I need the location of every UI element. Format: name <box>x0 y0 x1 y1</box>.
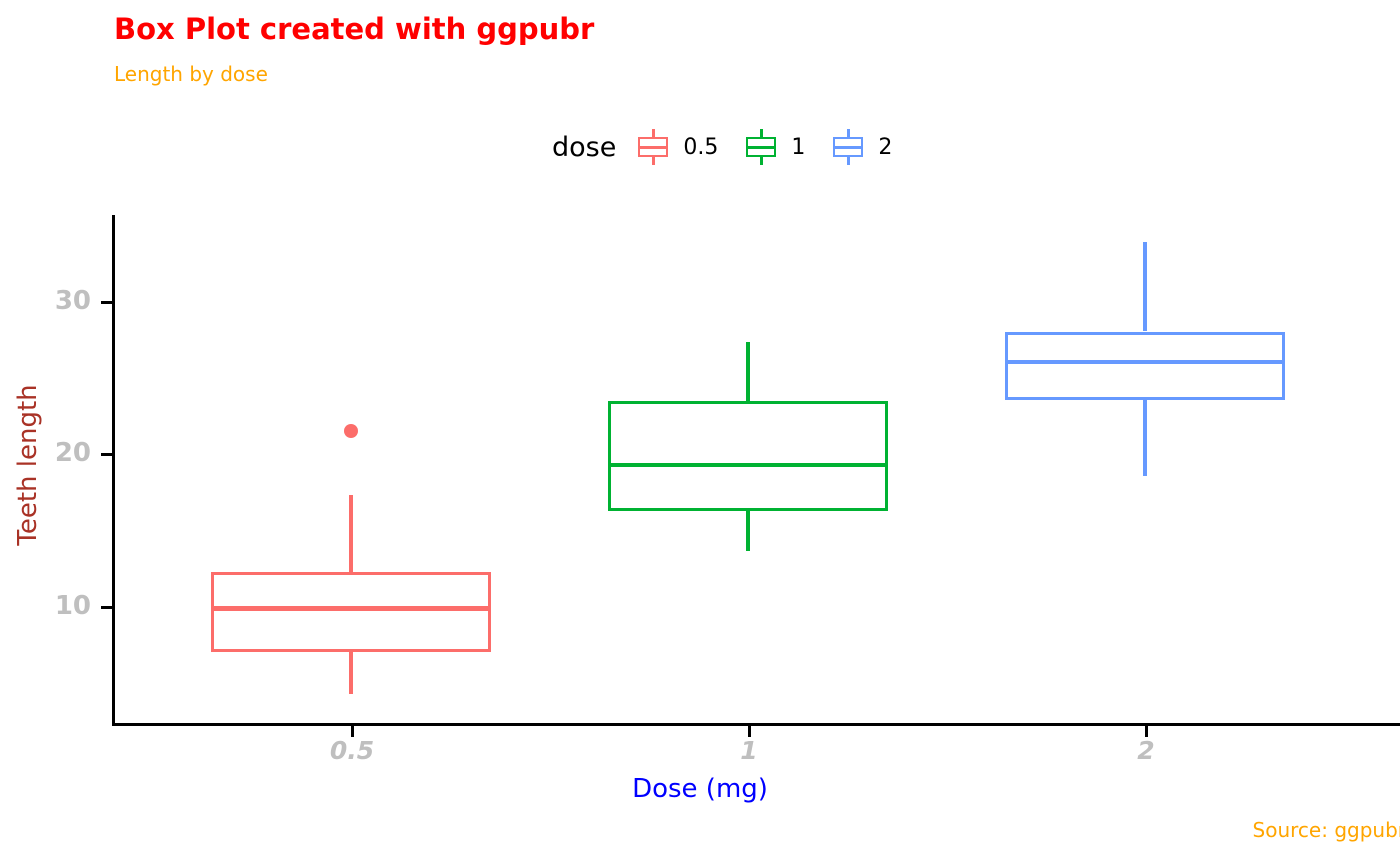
y-tick-mark-30 <box>101 301 112 304</box>
x-axis-title: Dose (mg) <box>0 774 1400 804</box>
chart-canvas: Box Plot created with ggpubr Length by d… <box>0 0 1400 866</box>
plot-caption: Source: ggpubr <box>1253 818 1400 842</box>
plot-panel: 30 20 10 0.5 1 2 Dose (mg) Teeth length <box>0 0 1400 866</box>
y-tick-mark-10 <box>101 606 112 609</box>
whisker-lower <box>1143 400 1146 476</box>
median-line <box>608 463 888 468</box>
x-axis-line <box>112 723 1400 726</box>
x-tick-label-2: 2 <box>1137 736 1154 765</box>
whisker-upper <box>349 495 352 572</box>
median-line <box>1005 360 1285 365</box>
median-line <box>211 606 491 611</box>
y-tick-mark-20 <box>101 453 112 456</box>
x-tick-label-1: 1 <box>740 736 757 765</box>
y-tick-label-20: 20 <box>55 438 91 468</box>
box-iqr[interactable] <box>608 401 888 511</box>
outlier-point[interactable] <box>344 424 358 438</box>
y-tick-label-10: 10 <box>55 591 91 621</box>
y-tick-label-30: 30 <box>55 286 91 316</box>
whisker-upper <box>746 342 749 401</box>
x-tick-label-0.5: 0.5 <box>330 736 374 765</box>
whisker-lower <box>349 652 352 695</box>
y-axis-line <box>112 215 115 726</box>
y-axis-title: Teeth length <box>13 315 43 615</box>
box-iqr[interactable] <box>211 572 491 652</box>
box-iqr[interactable] <box>1005 332 1285 401</box>
whisker-lower <box>746 511 749 551</box>
whisker-upper <box>1143 242 1146 332</box>
